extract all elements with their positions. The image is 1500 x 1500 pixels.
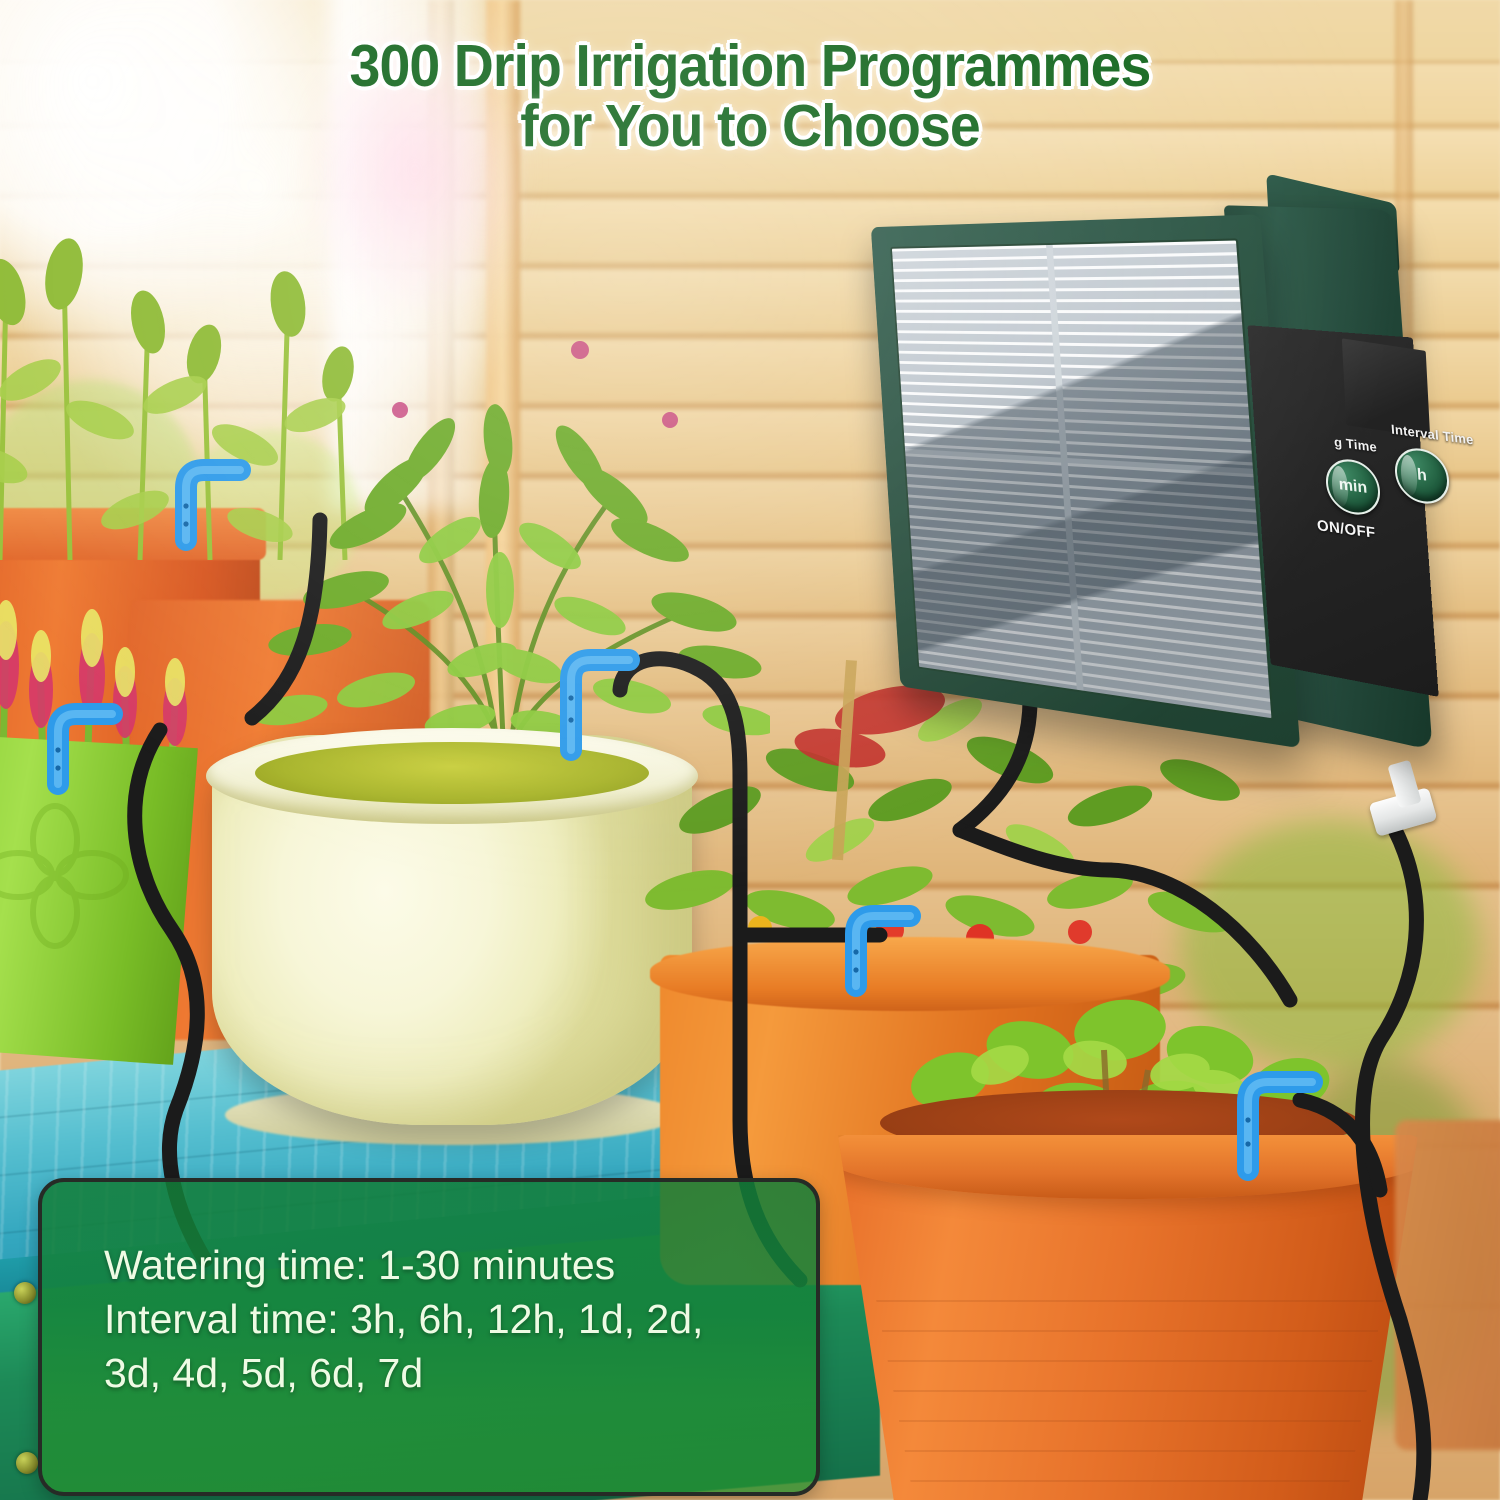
solar-panel-cells xyxy=(890,238,1274,720)
solar-panel-frame xyxy=(871,214,1300,748)
pot-interior xyxy=(255,742,649,804)
solar-irrigation-timer[interactable]: g Time Interval Time min h ON/OFF xyxy=(862,205,1462,765)
lcd-display xyxy=(1342,338,1430,437)
flower-emboss-decoration xyxy=(0,800,130,950)
pot-terracotta-far-right xyxy=(1395,1120,1500,1450)
product-scene: g Time Interval Time min h ON/OFF 300 Dr… xyxy=(0,0,1500,1500)
screw-head xyxy=(14,1282,36,1304)
title-line-1: 300 Drip Irrigation Programmes xyxy=(45,36,1455,96)
watering-time-spec: Watering time: 1-30 minutes xyxy=(104,1238,816,1292)
page-title: 300 Drip Irrigation Programmes for You t… xyxy=(45,36,1455,156)
interval-time-spec: Interval time: 3h, 6h, 12h, 1d, 2d, 3d, … xyxy=(104,1292,816,1400)
spec-banner: Watering time: 1-30 minutes Interval tim… xyxy=(38,1178,820,1496)
pot-ridge-detail xyxy=(860,1300,1400,1500)
screw-head xyxy=(16,1452,38,1474)
title-line-2: for You to Choose xyxy=(45,96,1455,156)
